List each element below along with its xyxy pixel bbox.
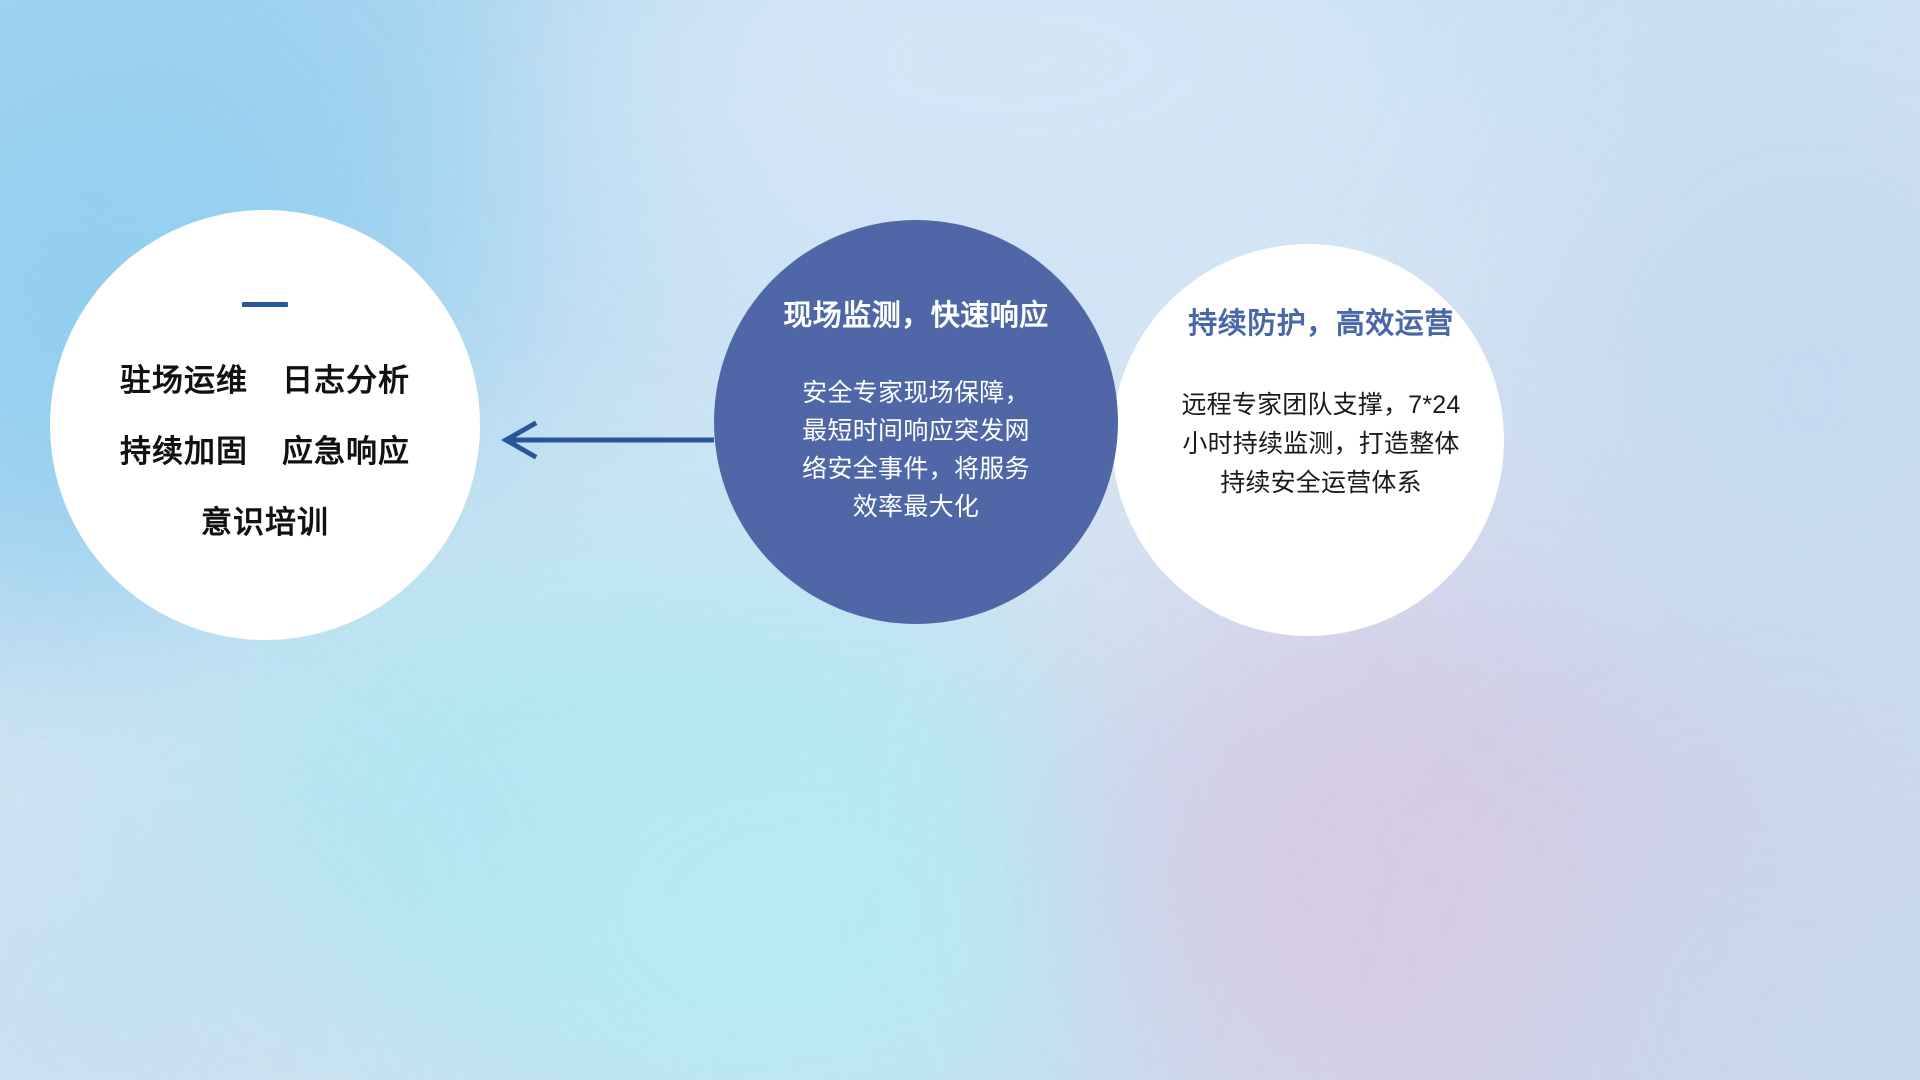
- list-item: 意识培训: [201, 497, 329, 542]
- card-body: 安全专家现场保障， 最短时间响应突发网 络安全事件，将服务 效率最大化: [766, 374, 1066, 526]
- capability-label: 持续加固: [120, 426, 248, 471]
- body-line: 远程专家团队支撑，7*24: [1146, 386, 1496, 425]
- service-capabilities-circle: 驻场运维 日志分析 持续加固 应急响应 意识培训: [50, 210, 480, 640]
- capability-list: 驻场运维 日志分析 持续加固 应急响应 意识培训: [120, 355, 410, 542]
- body-line: 安全专家现场保障，: [766, 374, 1066, 412]
- body-line: 最短时间响应突发网: [766, 412, 1066, 450]
- body-line: 小时持续监测，打造整体: [1146, 425, 1496, 464]
- blue-dash-accent: [242, 302, 288, 307]
- body-line: 持续安全运营体系: [1146, 464, 1496, 503]
- body-line: 效率最大化: [766, 488, 1066, 526]
- body-line: 络安全事件，将服务: [766, 450, 1066, 488]
- capability-label: 日志分析: [282, 355, 410, 400]
- arrow-icon: [496, 414, 716, 466]
- card-title: 现场监测，快速响应: [783, 292, 1049, 334]
- slide-canvas: 驻场运维 日志分析 持续加固 应急响应 意识培训 持续防护，高效运营 远程专家团…: [0, 0, 1920, 1080]
- list-item: 持续加固 应急响应: [120, 426, 410, 471]
- card-body: 远程专家团队支撑，7*24 小时持续监测，打造整体 持续安全运营体系: [1146, 386, 1496, 502]
- list-item: 驻场运维 日志分析: [120, 355, 410, 400]
- continuous-operations-circle: 持续防护，高效运营 远程专家团队支撑，7*24 小时持续监测，打造整体 持续安全…: [1112, 244, 1504, 636]
- capability-label: 意识培训: [201, 497, 329, 542]
- capability-label: 驻场运维: [120, 355, 248, 400]
- capability-label: 应急响应: [282, 426, 410, 471]
- onsite-monitoring-circle: 现场监测，快速响应 安全专家现场保障， 最短时间响应突发网 络安全事件，将服务 …: [714, 220, 1118, 624]
- card-title: 持续防护，高效运营: [1188, 300, 1454, 342]
